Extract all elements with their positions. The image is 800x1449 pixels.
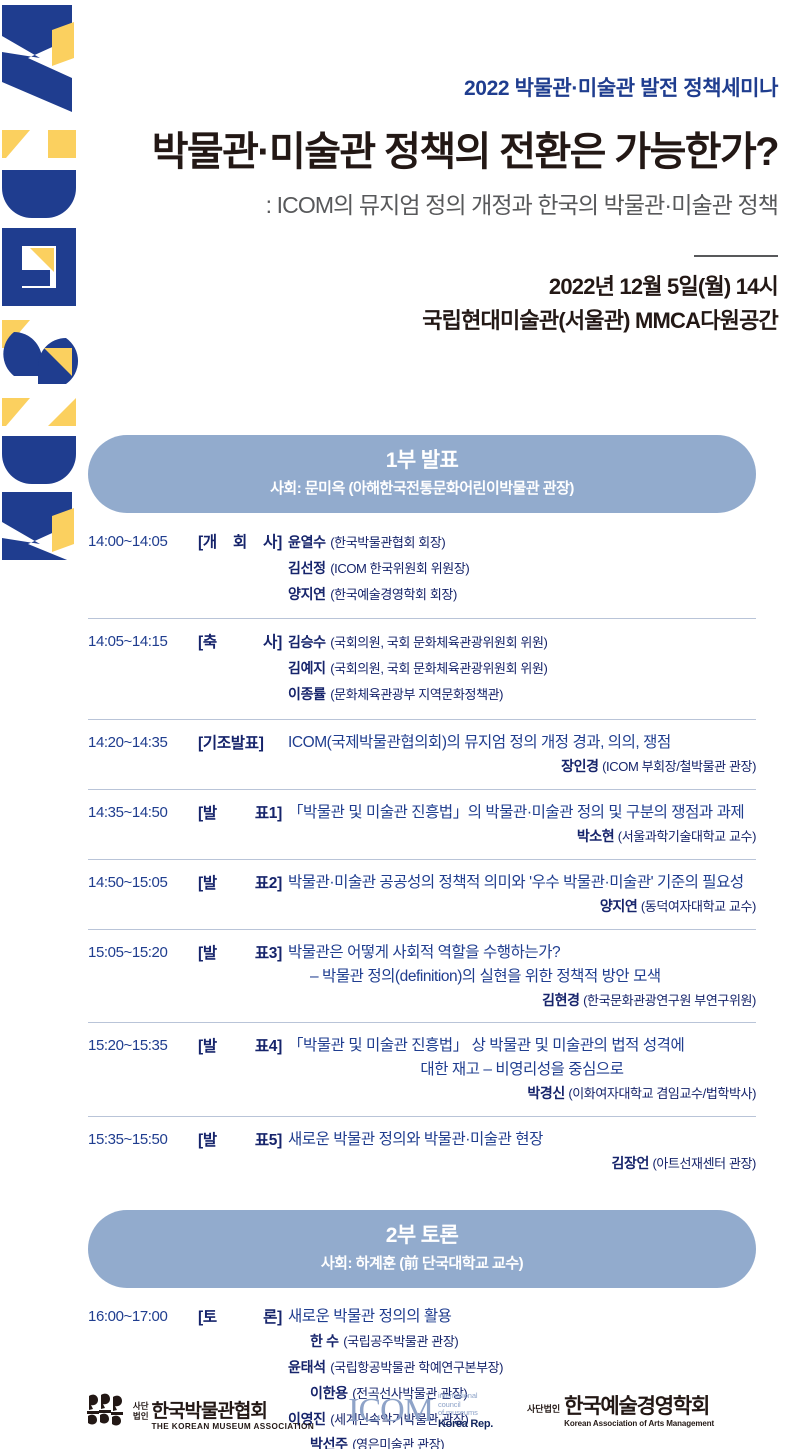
presenter: 장인경 (ICOM 부회장/철박물관 관장) <box>288 755 756 778</box>
tag-open: [발 <box>198 872 217 895</box>
panel-title: 새로운 박물관 정의의 활용 <box>288 1305 756 1329</box>
talk-title: 박물관은 어떻게 사회적 역할을 수행하는가? <box>288 941 756 965</box>
row-body: 새로운 박물관 정의와 박물관·미술관 현장 김장언 (아트선재센터 관장) <box>282 1128 756 1175</box>
page-title: 박물관·미술관 정책의 전환은 가능한가? <box>88 127 778 177</box>
tag-mid: 회 <box>233 531 247 554</box>
letter-e-shape <box>2 320 78 384</box>
icom-wordmark: ICOM <box>348 1394 433 1428</box>
kma-prefix: 사단 법인 <box>133 1402 149 1431</box>
speaker-name: 김선정 <box>288 560 326 576</box>
tag-close: 사] <box>263 531 282 554</box>
presenter: 김현경 (한국문화관광연구원 부연구위원) <box>288 989 756 1012</box>
panelist-name: 박선주 <box>310 1436 348 1449</box>
icom-line3: of museums <box>438 1409 493 1417</box>
footer-logos: 사단 법인 한국박물관협회 THE KOREAN MUSEUM ASSOCIAT… <box>0 1392 800 1431</box>
talk-title: 「박물관 및 미술관 진흥법」의 박물관·미술관 정의 및 구분의 쟁점과 과제 <box>288 801 756 825</box>
row-body: 「박물관 및 미술관 진흥법」 상 박물관 및 미술관의 법적 성격에 대한 재… <box>282 1034 756 1105</box>
presenter-name: 박경신 <box>527 1085 564 1101</box>
kma-brush-mark-icon <box>86 1392 126 1431</box>
letter-u-shape <box>2 130 76 218</box>
header-divider <box>694 255 778 257</box>
presenter-affiliation: (동덕여자대학교 교수) <box>641 899 756 914</box>
talk-title: 「박물관 및 미술관 진흥법」 상 박물관 및 미술관의 법적 성격에 <box>288 1034 756 1058</box>
list-item: 박선주 (영은미술관 관장) <box>288 1432 610 1449</box>
row-tag: [발 표2] <box>198 871 282 895</box>
presenter-affiliation: (한국문화관광연구원 부연구위원) <box>583 993 756 1008</box>
row-tag: [개 회 사] <box>198 530 282 554</box>
page-subtitle: : ICOM의 뮤지엄 정의 개정과 한국의 박물관·미술관 정책 <box>88 191 778 221</box>
host-label: 사회: <box>270 480 301 497</box>
poster-header: 2022 박물관·미술관 발전 정책세미나 박물관·미술관 정책의 전환은 가능… <box>88 76 778 337</box>
presenter-affiliation: (서울과학기술대학교 교수) <box>618 829 756 844</box>
row-time: 14:05~14:15 <box>88 630 198 654</box>
row-tag: [발 표1] <box>198 801 282 825</box>
speaker-affiliation: (한국박물관협회 회장) <box>330 535 445 550</box>
list-item: 한 수 (국립공주박물관 관장) <box>288 1329 610 1355</box>
letter-s-shape-1 <box>2 228 76 306</box>
presenter-affiliation: (아트선재센터 관장) <box>652 1156 756 1171</box>
list-item: 윤태석 (국립항공박물관 학예연구본부장) <box>288 1355 503 1381</box>
table-row: 14:35~14:50 [발 표1] 「박물관 및 미술관 진흥법」의 박물관·… <box>88 790 756 860</box>
presenter-name: 박소현 <box>577 828 614 844</box>
talk-title: 새로운 박물관 정의와 박물관·미술관 현장 <box>288 1128 756 1152</box>
panelist-affiliation: (국립공주박물관 관장) <box>343 1334 458 1349</box>
table-row: 14:00~14:05 [개 회 사] 윤열수 (한국박물관협회 회장) 김선정 <box>88 519 756 620</box>
row-tag: [발 표3] <box>198 941 282 965</box>
row-time: 14:00~14:05 <box>88 530 198 554</box>
section-title-part2: 2부 토론 <box>98 1223 746 1249</box>
row-body: 박물관은 어떻게 사회적 역할을 수행하는가? – 박물관 정의(definit… <box>282 941 756 1012</box>
talk-subtitle: 대한 재고 – 비영리성을 중심으로 <box>288 1058 756 1082</box>
row-time: 15:05~15:20 <box>88 941 198 965</box>
table-row: 15:20~15:35 [발 표4] 「박물관 및 미술관 진흥법」 상 박물관… <box>88 1023 756 1117</box>
row-time: 14:50~15:05 <box>88 871 198 895</box>
kaam-prefix: 사단법인 <box>527 1402 560 1422</box>
program-schedule: 1부 발표 사회: 문미옥 (아해한국전통문화어린이박물관 관장) 14:00~… <box>88 435 756 1449</box>
presenter-affiliation: (이화여자대학교 겸임교수/법학박사) <box>568 1086 756 1101</box>
presenter: 박경신 (이화여자대학교 겸임교수/법학박사) <box>288 1082 756 1105</box>
row-body: 박물관·미술관 공공성의 정책적 의미와 '우수 박물관·미술관' 기준의 필요… <box>282 871 756 918</box>
row-tag: [발 표4] <box>198 1034 282 1058</box>
row-body: 김승수 (국회의원, 국회 문화체육관광위원회 위원) 김예지 (국회의원, 국… <box>282 630 756 708</box>
speaker-name: 이종률 <box>288 686 326 702</box>
tag-close: 표5] <box>255 1129 282 1152</box>
tag-open: [발 <box>198 942 217 965</box>
tag-open: [발 <box>198 1129 217 1152</box>
section-spacer <box>88 1186 756 1210</box>
speaker-affiliation: (국회의원, 국회 문화체육관광위원회 위원) <box>330 635 547 650</box>
section-band-part1: 1부 발표 사회: 문미옥 (아해한국전통문화어린이박물관 관장) <box>88 435 756 513</box>
event-venue: 국립현대미술관(서울관) MMCA다원공간 <box>88 305 778 337</box>
speaker-affiliation: (한국예술경영학회 회장) <box>330 587 457 602</box>
host-label: 사회: <box>321 1255 352 1272</box>
speaker-name: 윤열수 <box>288 534 326 550</box>
presenter: 김장언 (아트선재센터 관장) <box>288 1152 756 1175</box>
speaker-columns: 윤열수 (한국박물관협회 회장) 김선정 (ICOM 한국위원회 위원장) 양지… <box>288 530 756 608</box>
row-tag: [기조발표] <box>198 731 282 755</box>
presenter-name: 김현경 <box>542 992 579 1008</box>
row-time: 14:35~14:50 <box>88 801 198 825</box>
presenter-name: 장인경 <box>561 758 598 774</box>
speaker-affiliation: (ICOM 한국위원회 위원장) <box>330 561 469 576</box>
presenter: 박소현 (서울과학기술대학교 교수) <box>288 825 756 848</box>
row-tag: [발 표5] <box>198 1128 282 1152</box>
talk-title: ICOM(국제박물관협의회)의 뮤지엄 정의 개정 경과, 의의, 쟁점 <box>288 731 756 755</box>
speaker-affiliation: (국회의원, 국회 문화체육관광위원회 위원) <box>330 661 547 676</box>
logo-korean-association-arts-management: 사단법인 한국예술경영학회 Korean Association of Arts… <box>527 1396 714 1428</box>
speaker-name: 김승수 <box>288 634 326 650</box>
row-body: 윤열수 (한국박물관협회 회장) 김선정 (ICOM 한국위원회 위원장) 양지… <box>282 530 756 608</box>
tag-open: [기조발표] <box>198 732 264 755</box>
host-name: 하계훈 (前 단국대학교 교수) <box>356 1255 524 1272</box>
seminar-eyebrow: 2022 박물관·미술관 발전 정책세미나 <box>88 76 778 101</box>
tag-open: [토 <box>198 1306 217 1329</box>
list-item: 김선정 (ICOM 한국위원회 위원장) <box>288 556 469 582</box>
tag-open: [발 <box>198 802 217 825</box>
kaam-english-name: Korean Association of Arts Management <box>564 1420 714 1428</box>
tag-open: [발 <box>198 1035 217 1058</box>
kma-english-name: THE KOREAN MUSEUM ASSOCIATION <box>152 1423 315 1431</box>
tag-close: 표3] <box>255 942 282 965</box>
row-time: 16:00~17:00 <box>88 1305 198 1329</box>
table-row: 14:50~15:05 [발 표2] 박물관·미술관 공공성의 정책적 의미와 … <box>88 860 756 930</box>
logo-icom-korea: ICOM international council of museums Ko… <box>348 1392 493 1430</box>
letter-m-shape-2 <box>2 492 74 560</box>
icom-korea-label: Korea Rep. <box>438 1418 493 1430</box>
panelist-name: 한 수 <box>310 1333 339 1349</box>
talk-title: 박물관·미술관 공공성의 정책적 의미와 '우수 박물관·미술관' 기준의 필요… <box>288 871 756 895</box>
list-item: 김예지 (국회의원, 국회 문화체육관광위원회 위원) <box>288 656 756 682</box>
section-title-part1: 1부 발표 <box>98 448 746 474</box>
kaam-korean-name: 한국예술경영학회 <box>564 1396 714 1417</box>
panelist-affiliation: (국립항공박물관 학예연구본부장) <box>330 1360 503 1375</box>
speaker-name: 양지연 <box>288 586 326 602</box>
list-item: 이종률 (문화체육관광부 지역문화정책관) <box>288 682 756 708</box>
presenter-affiliation: (ICOM 부회장/철박물관 관장) <box>602 759 756 774</box>
presenter-name: 양지연 <box>600 898 637 914</box>
table-row: 15:05~15:20 [발 표3] 박물관은 어떻게 사회적 역할을 수행하는… <box>88 930 756 1024</box>
event-date: 2022년 12월 5일(월) 14시 <box>88 271 778 303</box>
row-tag: [토 론] <box>198 1305 282 1329</box>
logo-korean-museum-association: 사단 법인 한국박물관협회 THE KOREAN MUSEUM ASSOCIAT… <box>86 1392 314 1431</box>
section-host-part2: 사회: 하계훈 (前 단국대학교 교수) <box>98 1254 746 1274</box>
row-time: 15:20~15:35 <box>88 1034 198 1058</box>
table-row: 15:35~15:50 [발 표5] 새로운 박물관 정의와 박물관·미술관 현… <box>88 1117 756 1186</box>
tag-close: 론] <box>263 1306 282 1329</box>
section-band-part2: 2부 토론 사회: 하계훈 (前 단국대학교 교수) <box>88 1210 756 1288</box>
presenter: 양지연 (동덕여자대학교 교수) <box>288 895 756 918</box>
talk-subtitle: – 박물관 정의(definition)의 실현을 위한 정책적 방안 모색 <box>288 965 756 989</box>
section-host-part1: 사회: 문미옥 (아해한국전통문화어린이박물관 관장) <box>98 479 746 499</box>
kma-prefix-line2: 법인 <box>133 1411 149 1421</box>
kma-text: 한국박물관협회 THE KOREAN MUSEUM ASSOCIATION <box>152 1401 315 1431</box>
list-item: 양지연 (한국예술경영학회 회장) <box>288 582 588 608</box>
tag-close: 표2] <box>255 872 282 895</box>
seminar-poster: 2022 박물관·미술관 발전 정책세미나 박물관·미술관 정책의 전환은 가능… <box>0 0 800 1449</box>
tag-open: [축 <box>198 631 217 654</box>
kma-korean-name: 한국박물관협회 <box>152 1402 315 1421</box>
letter-u-shape-2 <box>2 398 76 484</box>
list-item: 윤열수 (한국박물관협회 회장) <box>288 530 588 556</box>
tag-close: 표4] <box>255 1035 282 1058</box>
row-time: 15:35~15:50 <box>88 1128 198 1152</box>
host-name: 문미옥 (아해한국전통문화어린이박물관 관장) <box>305 480 574 497</box>
tag-open: [개 <box>198 531 217 554</box>
speaker-affiliation: (문화체육관광부 지역문화정책관) <box>330 687 503 702</box>
kaam-text: 한국예술경영학회 Korean Association of Arts Mana… <box>564 1396 714 1428</box>
part1-rows: 14:00~14:05 [개 회 사] 윤열수 (한국박물관협회 회장) 김선정 <box>88 519 756 1186</box>
row-tag: [축 사] <box>198 630 282 654</box>
row-body: 「박물관 및 미술관 진흥법」의 박물관·미술관 정의 및 구분의 쟁점과 과제… <box>282 801 756 848</box>
presenter-name: 김장언 <box>611 1155 648 1171</box>
row-time: 14:20~14:35 <box>88 731 198 755</box>
list-item: 김승수 (국회의원, 국회 문화체육관광위원회 위원) <box>288 630 756 656</box>
letter-m-shape <box>2 5 74 112</box>
tag-close: 표1] <box>255 802 282 825</box>
panelist-name: 윤태석 <box>288 1359 326 1375</box>
tag-close: 사] <box>263 631 282 654</box>
panelist-affiliation: (영은미술관 관장) <box>352 1437 444 1449</box>
icom-descriptor: international council of museums Korea R… <box>438 1392 493 1430</box>
table-row: 14:05~14:15 [축 사] 김승수 (국회의원, 국회 문화체육관광위원… <box>88 619 756 720</box>
kma-prefix-line1: 사단 <box>133 1401 149 1411</box>
row-body: ICOM(국제박물관협의회)의 뮤지엄 정의 개정 경과, 의의, 쟁점 장인경… <box>282 731 756 778</box>
speaker-name: 김예지 <box>288 660 326 676</box>
table-row: 14:20~14:35 [기조발표] ICOM(국제박물관협의회)의 뮤지엄 정… <box>88 720 756 790</box>
